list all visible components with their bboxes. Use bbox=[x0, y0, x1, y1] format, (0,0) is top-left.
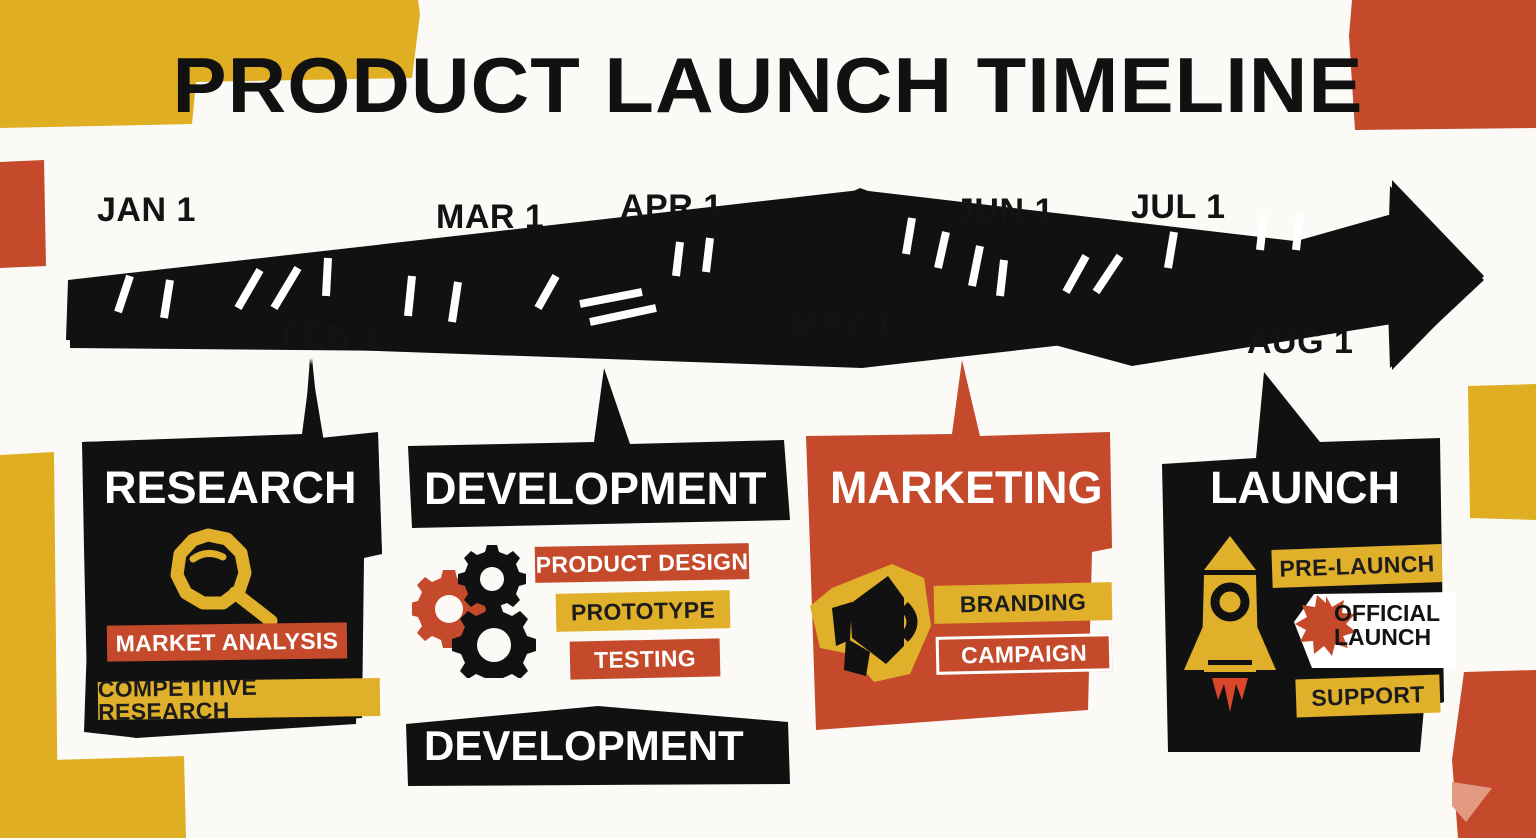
marketing-tag-0[interactable]: BRANDING bbox=[934, 582, 1113, 624]
milestone-jul-1[interactable]: JUL 1 bbox=[1131, 188, 1225, 227]
rocket-fin-left bbox=[1184, 624, 1204, 670]
decor-red-left bbox=[0, 160, 46, 268]
rocket-flame bbox=[1212, 678, 1248, 712]
official-launch-line-1: OFFICIAL bbox=[1334, 602, 1440, 626]
phase-card-marketing[interactable] bbox=[792, 358, 1132, 758]
decor-gold-right bbox=[1468, 384, 1536, 520]
decor-gold-bottom-left-2 bbox=[52, 756, 186, 838]
development-footer-label: DEVELOPMENT bbox=[424, 722, 744, 770]
development-title: DEVELOPMENT bbox=[424, 463, 767, 515]
milestone-apr-1[interactable]: APR 1 bbox=[620, 188, 723, 227]
development-tag-1[interactable]: PROTOTYPE bbox=[556, 590, 731, 632]
milestone-mar-1[interactable]: MAR 1 bbox=[436, 198, 544, 237]
rocket-nose-sep bbox=[1204, 570, 1256, 575]
gears-icon bbox=[412, 542, 540, 678]
milestone-aug-1[interactable]: AUG 1 bbox=[1247, 323, 1353, 362]
infographic-canvas: JAN 1 FEB 1 MAR 1 APR 1 MAY 1 JUN 1 JUL … bbox=[0, 0, 1536, 838]
official-launch-line-2: LAUNCH bbox=[1334, 626, 1440, 650]
research-tag-0[interactable]: MARKET ANALYSIS bbox=[107, 622, 347, 661]
official-launch-label: OFFICIAL LAUNCH bbox=[1334, 602, 1440, 649]
milestone-may-1[interactable]: MAY 1 bbox=[791, 305, 894, 344]
launch-title: LAUNCH bbox=[1210, 462, 1400, 514]
launch-tag-1[interactable]: SUPPORT bbox=[1295, 674, 1440, 717]
milestone-feb-1[interactable]: FEB 1 bbox=[281, 318, 380, 357]
development-tag-0[interactable]: PRODUCT DESIGN bbox=[535, 543, 750, 583]
marketing-title: MARKETING bbox=[830, 462, 1102, 514]
milestone-jun-1[interactable]: JUN 1 bbox=[955, 192, 1054, 231]
rocket-nose bbox=[1204, 536, 1256, 570]
megaphone-icon bbox=[800, 562, 940, 692]
rocket-fin-right bbox=[1256, 624, 1276, 670]
decor-gold-bottom-left bbox=[0, 452, 58, 838]
milestone-jan-1[interactable]: JAN 1 bbox=[97, 191, 196, 230]
gear-black-top bbox=[458, 545, 526, 613]
launch-tag-0[interactable]: PRE-LAUNCH bbox=[1271, 544, 1442, 588]
research-tag-1[interactable]: COMPETITIVE RESEARCH bbox=[98, 678, 381, 720]
research-title: RESEARCH bbox=[104, 462, 357, 514]
marketing-tag-1[interactable]: CAMPAIGN bbox=[936, 633, 1113, 675]
magnifier-icon bbox=[155, 527, 285, 637]
rocket-base-line bbox=[1208, 660, 1252, 665]
page-title: PRODUCT LAUNCH TIMELINE bbox=[0, 40, 1536, 131]
rocket-icon bbox=[1178, 532, 1282, 718]
development-tag-2[interactable]: TESTING bbox=[570, 638, 721, 679]
